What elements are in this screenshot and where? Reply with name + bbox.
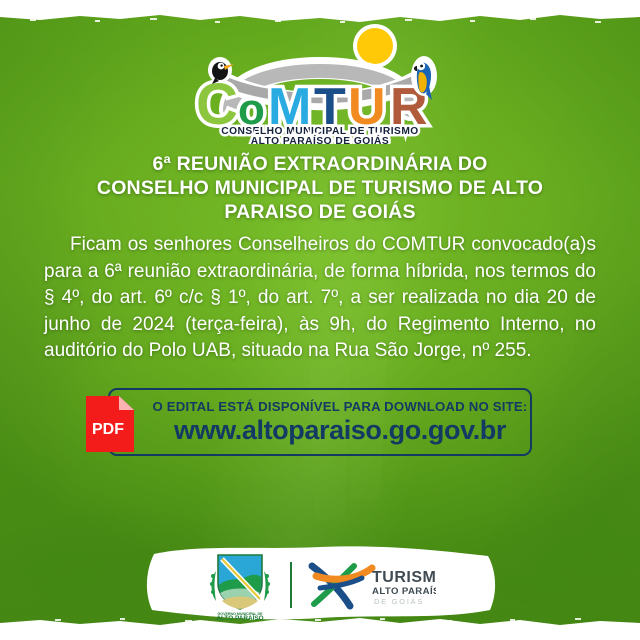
sun-icon xyxy=(357,28,393,64)
poster-canvas: C o M T U R xyxy=(0,0,640,640)
comtur-logo: C o M T U R xyxy=(0,24,640,144)
comtur-logo-svg: C o M T U R xyxy=(190,24,450,144)
announcement-body-text: Ficam os senhores Conselheiros do COMTUR… xyxy=(44,234,596,361)
brasao-alto-paraiso-icon: GOVERNO MUNICIPAL DE ALTO PARAÍSO xyxy=(204,549,276,621)
footer-banner: GOVERNO MUNICIPAL DE ALTO PARAÍSO TURISM… xyxy=(0,548,640,622)
pdf-icon-label: PDF xyxy=(92,421,124,438)
download-caption: O EDITAL ESTÁ DISPONÍVEL PARA DOWNLOAD N… xyxy=(150,399,530,414)
headline-line-3: PARAISO DE GOIÁS xyxy=(40,200,600,224)
announcement-body: Ficam os senhores Conselheiros do COMTUR… xyxy=(44,232,596,365)
headline-line-2: CONSELHO MUNICIPAL DE TURISMO DE ALTO xyxy=(40,176,600,200)
comtur-tagline-line2: ALTO PARAÍSO DE GOIÁS xyxy=(251,134,389,144)
download-text-group: O EDITAL ESTÁ DISPONÍVEL PARA DOWNLOAD N… xyxy=(150,399,530,446)
footer-divider xyxy=(290,562,292,608)
turismo-line2: ALTO PARAÍSO xyxy=(372,585,436,597)
brasao-line2: ALTO PARAÍSO xyxy=(216,613,263,621)
footer-logos: GOVERNO MUNICIPAL DE ALTO PARAÍSO TURISM… xyxy=(204,549,436,621)
turismo-line3: DE GOIÁS xyxy=(374,597,424,606)
download-callout-box[interactable]: PDF O EDITAL ESTÁ DISPONÍVEL PARA DOWNLO… xyxy=(108,388,532,456)
headline-line-1: 6ª REUNIÃO EXTRAORDINÁRIA DO xyxy=(40,152,600,176)
download-url[interactable]: www.altoparaiso.go.gov.br xyxy=(150,415,530,446)
turismo-line1: TURISMO xyxy=(372,569,436,586)
turismo-alto-paraiso-icon: TURISMO ALTO PARAÍSO DE GOIÁS xyxy=(306,556,436,614)
pdf-file-icon[interactable]: PDF xyxy=(86,396,134,452)
page-title: 6ª REUNIÃO EXTRAORDINÁRIA DO CONSELHO MU… xyxy=(40,152,600,224)
comtur-tagline: CONSELHO MUNICIPAL DE TURISMO ALTO PARAÍ… xyxy=(221,126,419,144)
turismo-swoosh xyxy=(312,566,372,606)
